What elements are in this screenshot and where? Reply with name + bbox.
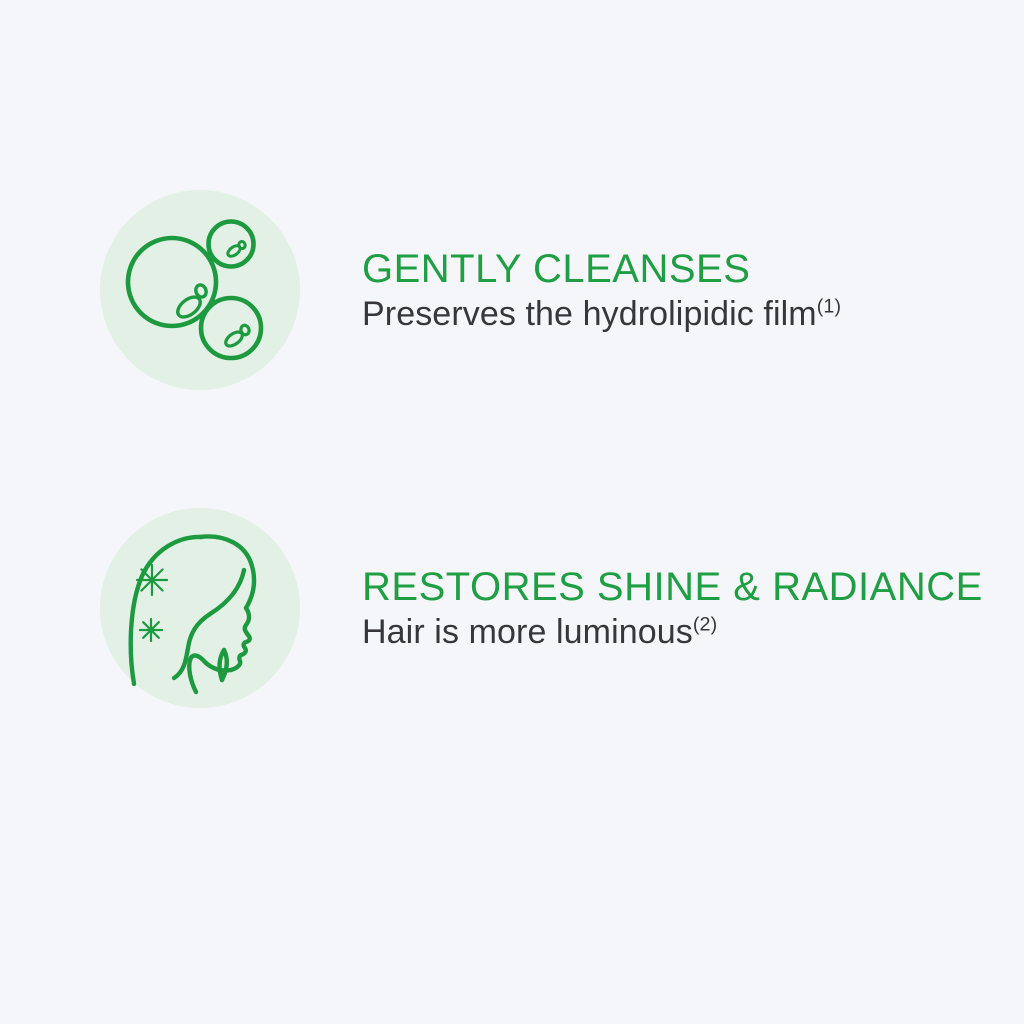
benefit-title: GENTLY CLEANSES xyxy=(362,249,841,291)
benefit-subtitle-text: Hair is more luminous xyxy=(362,613,693,651)
benefit-text-block: RESTORES SHINE & RADIANCE Hair is more l… xyxy=(362,567,983,651)
benefit-footnote-marker: (1) xyxy=(817,295,841,317)
benefit-subtitle: Hair is more luminous(2) xyxy=(362,613,983,651)
woman-hair-profile-icon xyxy=(100,508,300,708)
benefit-item-gently-cleanses: GENTLY CLEANSES Preserves the hydrolipid… xyxy=(100,190,841,390)
bubbles-icon xyxy=(100,190,300,390)
benefit-title: RESTORES SHINE & RADIANCE xyxy=(362,567,983,609)
benefit-footnote-marker: (2) xyxy=(693,613,717,635)
benefit-icon-badge xyxy=(100,508,300,708)
benefits-panel: GENTLY CLEANSES Preserves the hydrolipid… xyxy=(0,0,1024,1024)
benefit-item-restores-shine: RESTORES SHINE & RADIANCE Hair is more l… xyxy=(100,508,983,708)
benefit-subtitle-text: Preserves the hydrolipidic film xyxy=(362,295,817,333)
benefit-subtitle: Preserves the hydrolipidic film(1) xyxy=(362,295,841,333)
benefit-text-block: GENTLY CLEANSES Preserves the hydrolipid… xyxy=(362,249,841,333)
benefit-icon-badge xyxy=(100,190,300,390)
